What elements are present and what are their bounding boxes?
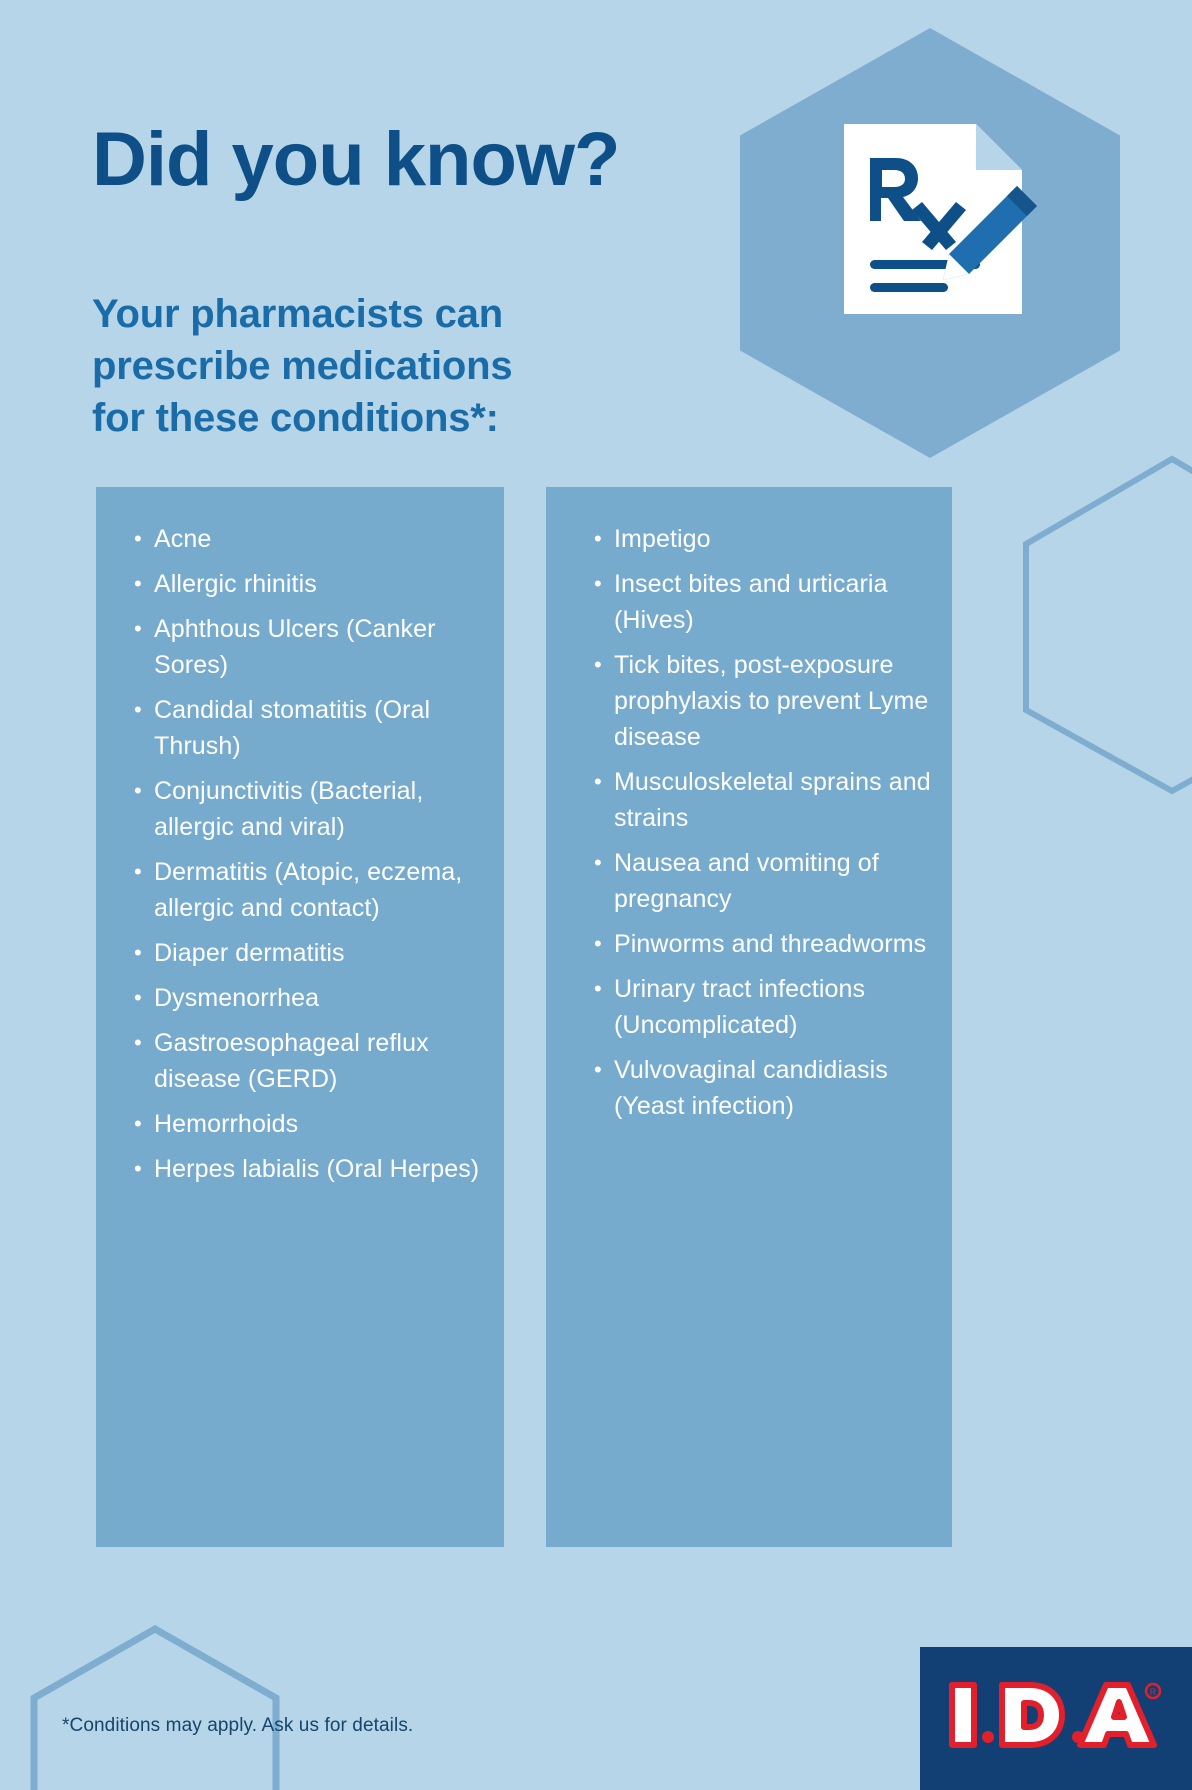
conditions-panel-right: Impetigo Insect bites and urticaria (Hiv… — [546, 487, 952, 1547]
conditions-list-right: Impetigo Insect bites and urticaria (Hiv… — [546, 521, 974, 1133]
list-item: Gastroesophageal reflux disease (GERD) — [108, 1025, 516, 1106]
list-item: Vulvovaginal candidiasis (Yeast infectio… — [568, 1052, 974, 1133]
hexagon-outline-icon — [30, 1625, 280, 1790]
list-item: Insect bites and urticaria (Hives) — [568, 566, 974, 647]
list-item: Hemorrhoids — [108, 1106, 516, 1151]
list-item: Pinworms and threadworms — [568, 926, 974, 971]
svg-text:R: R — [1150, 1687, 1157, 1697]
list-item: Allergic rhinitis — [108, 566, 516, 611]
list-item: Dermatitis (Atopic, eczema, allergic and… — [108, 854, 516, 935]
list-item: Acne — [108, 521, 516, 566]
list-item: Conjunctivitis (Bacterial, allergic and … — [108, 773, 516, 854]
list-item: Candidal stomatitis (Oral Thrush) — [108, 692, 516, 773]
list-item: Dysmenorrhea — [108, 980, 516, 1025]
list-item: Tick bites, post-exposure prophylaxis to… — [568, 647, 974, 764]
rx-prescription-pad-icon — [836, 118, 1046, 333]
poster-canvas: Did you know? Your pharmacists can presc… — [0, 0, 1192, 1790]
footnote-text: *Conditions may apply. Ask us for detail… — [62, 1715, 413, 1737]
page-title: Did you know? — [92, 118, 792, 202]
subheading: Your pharmacists can prescribe medicatio… — [92, 288, 732, 444]
list-item: Herpes labialis (Oral Herpes) — [108, 1151, 516, 1196]
list-item: Nausea and vomiting of pregnancy — [568, 845, 974, 926]
list-item: Urinary tract infections (Uncomplicated) — [568, 971, 974, 1052]
conditions-panel-left: Acne Allergic rhinitis Aphthous Ulcers (… — [96, 487, 504, 1547]
subheading-line-1: Your pharmacists can — [92, 288, 732, 340]
list-item: Impetigo — [568, 521, 974, 566]
ida-logo: R — [920, 1647, 1192, 1790]
ida-logo-mark: R — [946, 1675, 1161, 1755]
list-item: Musculoskeletal sprains and strains — [568, 764, 974, 845]
subheading-line-2: prescribe medications — [92, 340, 732, 392]
subheading-line-3: for these conditions*: — [92, 392, 732, 444]
list-item: Aphthous Ulcers (Canker Sores) — [108, 611, 516, 692]
list-item: Diaper dermatitis — [108, 935, 516, 980]
conditions-list-left: Acne Allergic rhinitis Aphthous Ulcers (… — [96, 521, 516, 1196]
hexagon-outline-icon — [1022, 455, 1192, 795]
